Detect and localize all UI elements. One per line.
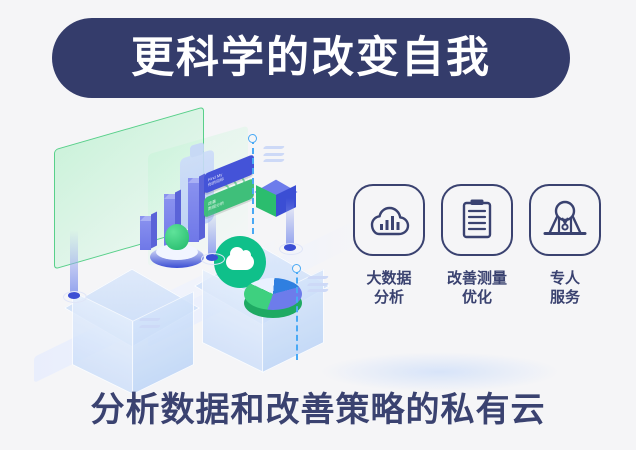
cloud-icon <box>226 254 254 270</box>
footer-tagline: 分析数据和改善策略的私有云 <box>0 382 636 431</box>
hatch-marks <box>140 318 160 331</box>
page-title: 更科学的改变自我 <box>131 37 491 80</box>
guide-dot <box>248 134 257 143</box>
pie-chart-3d <box>244 278 302 322</box>
pie-top <box>244 278 302 310</box>
dashed-guide <box>252 138 254 234</box>
dashed-guide <box>296 268 298 360</box>
feature-list: 大数据 分析 改善测量 优化 <box>352 184 602 307</box>
feature-big-data-analysis[interactable]: 大数据 分析 <box>352 184 426 307</box>
feature-label: 改善测量 优化 <box>447 269 507 307</box>
pin-marker <box>208 208 216 265</box>
cloud-chart-icon <box>353 184 425 256</box>
hatch-marks <box>308 276 328 296</box>
clipboard-icon <box>441 184 513 256</box>
hero-illustration: Find My 你的目标 改善 数据分析 <box>28 120 358 370</box>
pin-marker <box>70 230 78 303</box>
bar-3d <box>140 216 151 250</box>
feature-label: 大数据 分析 <box>366 269 411 307</box>
poster-canvas: 更科学的改变自我 Find My 你的目标 改善 <box>0 0 636 450</box>
feature-dedicated-service[interactable]: 专人 服务 <box>528 184 602 307</box>
feature-measurement-optimization[interactable]: 改善测量 优化 <box>440 184 514 307</box>
green-sphere-button <box>165 224 189 250</box>
hatch-marks <box>264 146 284 166</box>
pin-marker <box>286 198 294 255</box>
person-service-icon <box>529 184 601 256</box>
feature-label: 专人 服务 <box>550 269 580 307</box>
bar-3d <box>188 178 199 242</box>
guide-dot <box>292 264 301 273</box>
header-banner: 更科学的改变自我 <box>52 18 570 98</box>
